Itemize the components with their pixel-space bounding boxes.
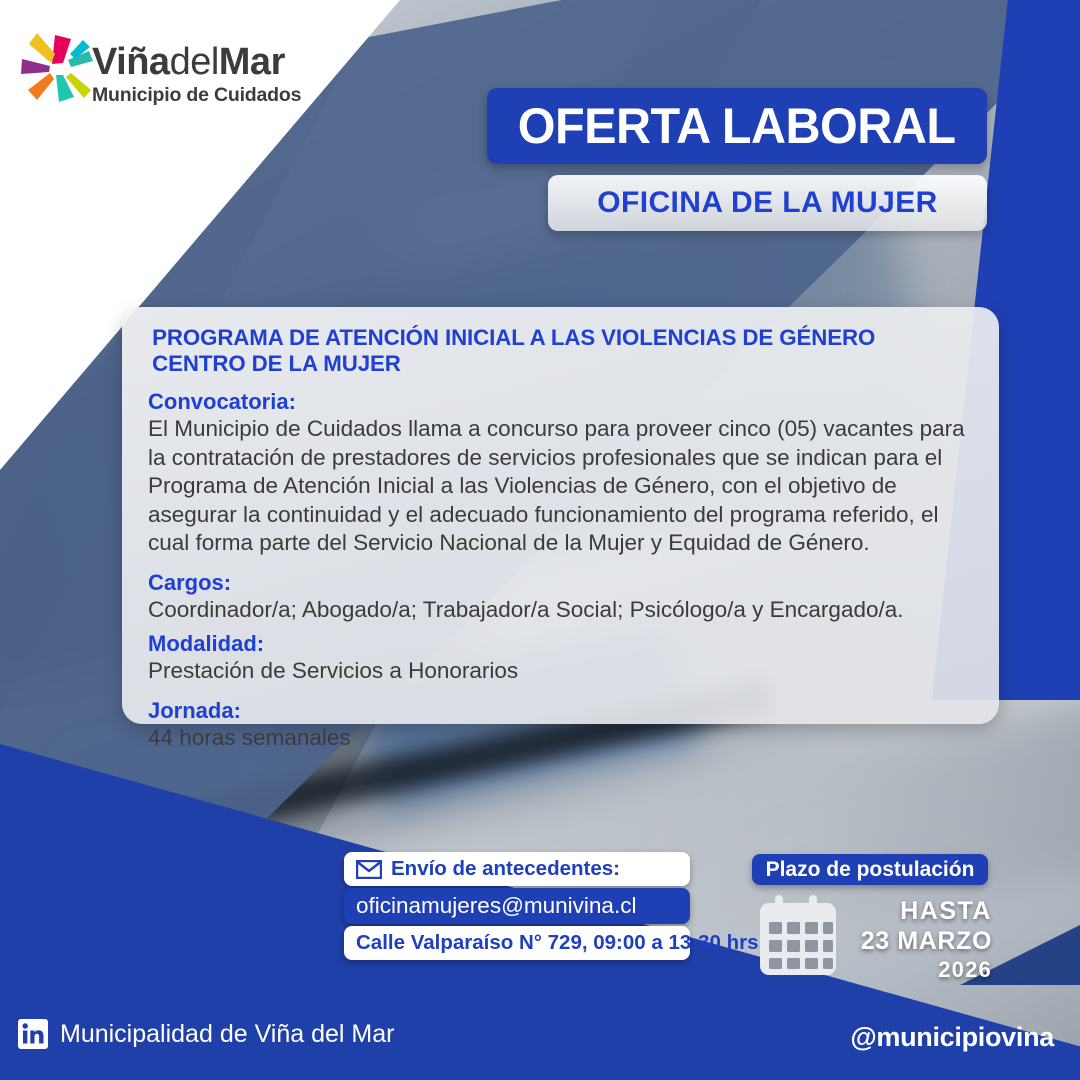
handle-text[interactable]: @municipiovina xyxy=(850,1022,1054,1052)
section-modalidad: Modalidad: Prestación de Servicios a Hon… xyxy=(148,630,973,686)
contact-email[interactable]: oficinamujeres@munivina.cl xyxy=(356,893,636,919)
section-cargos: Cargos: Coordinador/a; Abogado/a; Trabaj… xyxy=(148,569,973,625)
linkedin-footer[interactable]: Municipalidad de Viña del Mar xyxy=(18,1019,394,1049)
deadline-date: HASTA 23 MARZO 2026 xyxy=(852,896,992,984)
card-heading-line2: CENTRO DE LA MUJER xyxy=(152,351,401,376)
poster-canvas: ViñadelMar Municipio de Cuidados OFERTA … xyxy=(0,0,1080,1080)
section-label: Convocatoria: xyxy=(148,388,973,415)
viña-del-mar-logo: ViñadelMar Municipio de Cuidados xyxy=(18,26,318,118)
section-label: Modalidad: xyxy=(148,630,973,657)
email-row[interactable]: oficinamujeres@munivina.cl xyxy=(344,888,690,924)
section-text: Coordinador/a; Abogado/a; Trabajador/a S… xyxy=(148,596,973,625)
deadline-line2: 23 MARZO xyxy=(852,926,992,956)
section-text: Prestación de Servicios a Honorarios xyxy=(148,657,973,686)
logo-text-vina: Viña xyxy=(92,41,170,83)
calendar-icon xyxy=(757,893,839,977)
section-jornada: Jornada: 44 horas semanales xyxy=(148,697,973,753)
linkedin-icon[interactable] xyxy=(18,1019,48,1049)
job-details-card: PROGRAMA DE ATENCIÓN INICIAL A LAS VIOLE… xyxy=(122,307,999,724)
logo-text-del: del xyxy=(170,41,219,83)
deadline-line1: HASTA xyxy=(852,896,992,926)
page-subtitle: OFICINA DE LA MUJER xyxy=(597,186,937,220)
section-text: 44 horas semanales xyxy=(148,724,973,753)
card-heading-line1: PROGRAMA DE ATENCIÓN INICIAL A LAS VIOLE… xyxy=(152,325,875,350)
section-convocatoria: Convocatoria: El Municipio de Cuidados l… xyxy=(148,388,973,558)
oferta-laboral-banner: OFERTA LABORAL xyxy=(487,88,987,164)
envelope-icon xyxy=(356,860,382,879)
logo-tagline: Municipio de Cuidados xyxy=(92,84,301,106)
logo-text-mar: Mar xyxy=(219,41,285,83)
section-text: El Municipio de Cuidados llama a concurs… xyxy=(148,415,973,558)
linkedin-name: Municipalidad de Viña del Mar xyxy=(60,1020,394,1049)
oficina-mujer-pill: OFICINA DE LA MUJER xyxy=(548,175,987,231)
plazo-label: Plazo de postulación xyxy=(766,858,975,882)
section-label: Jornada: xyxy=(148,697,973,724)
social-handle[interactable]: @municipiovina xyxy=(850,1022,1054,1053)
contact-address: Calle Valparaíso N° 729, 09:00 a 13:30 h… xyxy=(356,931,764,955)
card-heading: PROGRAMA DE ATENCIÓN INICIAL A LAS VIOLE… xyxy=(152,325,969,377)
address-row: Calle Valparaíso N° 729, 09:00 a 13:30 h… xyxy=(344,926,690,960)
envio-antecedentes-row: Envío de antecedentes: xyxy=(344,852,690,886)
contact-block: Envío de antecedentes: oficinamujeres@mu… xyxy=(344,852,690,960)
contact-label: Envío de antecedentes: xyxy=(391,857,620,881)
section-label: Cargos: xyxy=(148,569,973,596)
deadline-line3: 2026 xyxy=(852,956,992,984)
logo-wordmark: ViñadelMar Municipio de Cuidados xyxy=(92,43,301,106)
page-title: OFERTA LABORAL xyxy=(518,97,956,155)
plazo-postulacion-pill: Plazo de postulación xyxy=(752,854,988,885)
pinwheel-logo-icon xyxy=(18,26,96,110)
